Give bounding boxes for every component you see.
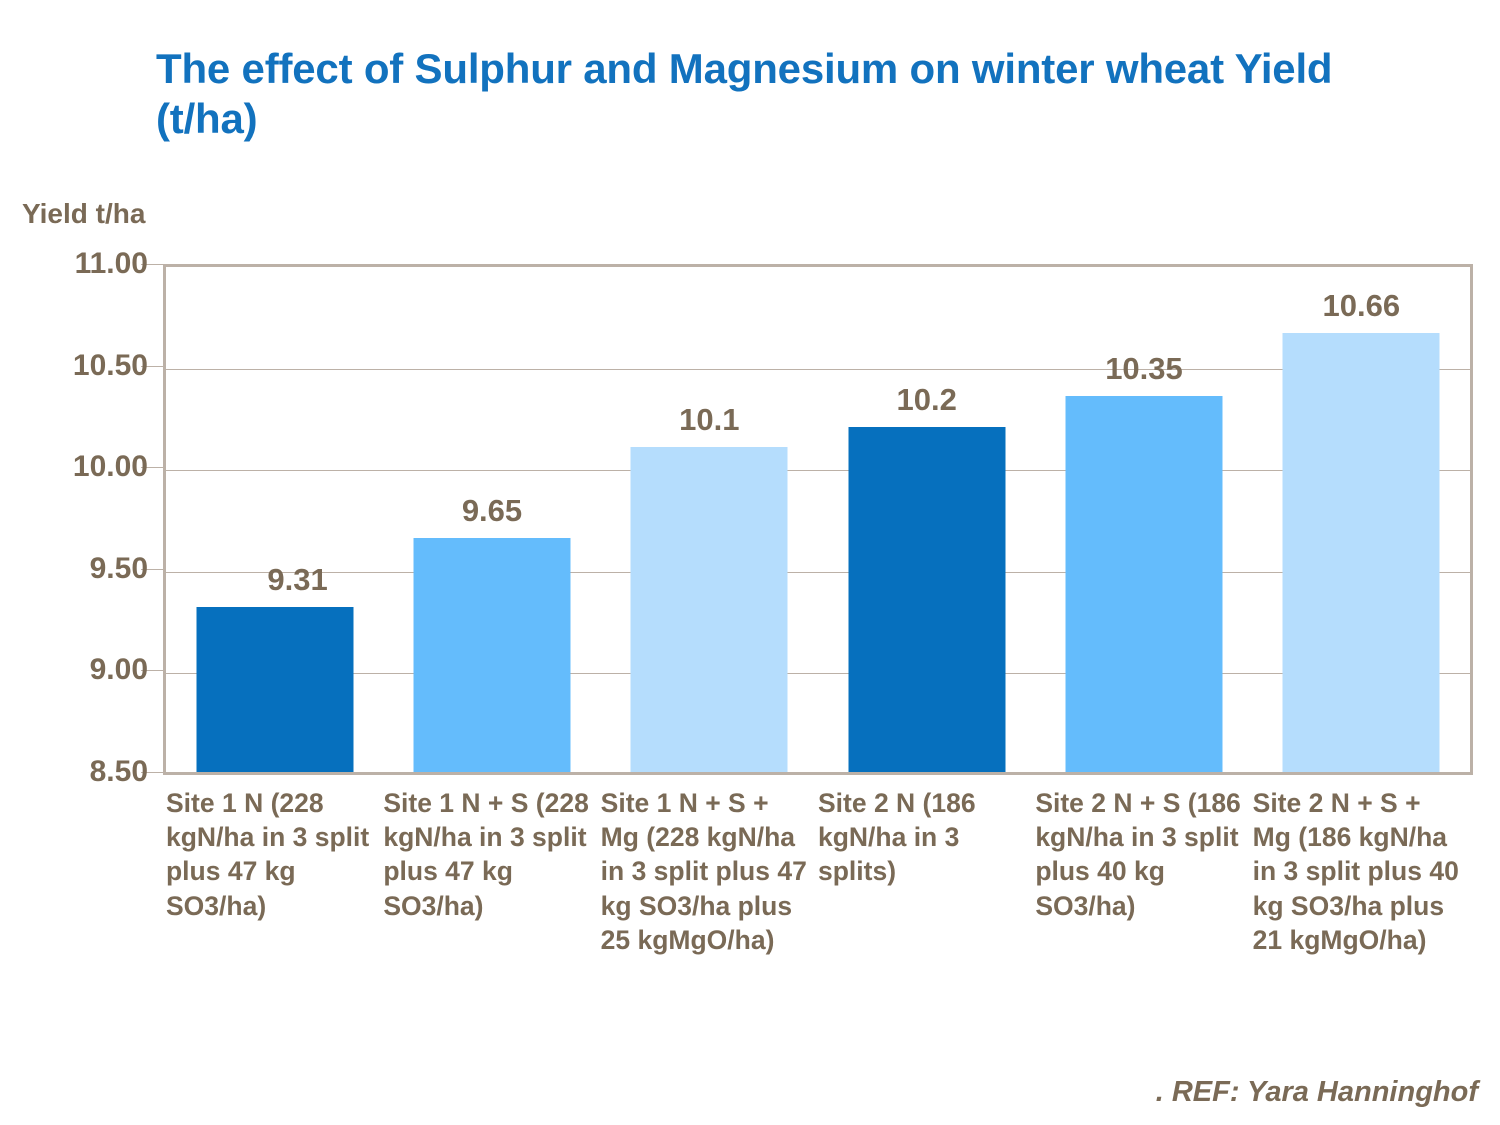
y-axis-tick-label: 11.00 [18,247,148,281]
y-axis-tick-label: 9.50 [18,552,148,586]
y-axis-tick-label: 10.00 [18,450,148,484]
x-axis-category-label: Site 2 N + S (186 kgN/ha in 3 split plus… [1035,786,1252,957]
bar-value-label: 9.65 [462,493,522,529]
bar[interactable] [1283,333,1440,772]
chart-plot-wrapper: 8.509.009.5010.0010.5011.00 9.319.6510.1… [0,0,1500,1125]
x-axis-category-label: Site 2 N + S + Mg (186 kgN/ha in 3 split… [1253,786,1470,957]
x-axis-category-label: Site 2 N (186 kgN/ha in 3 splits) [818,786,1035,957]
bar-slot: 9.65 [383,264,600,772]
bar-value-label: 10.35 [1105,351,1183,387]
x-axis-category-label: Site 1 N (228 kgN/ha in 3 split plus 47 … [166,786,383,957]
y-axis-tick-label: 8.50 [18,755,148,789]
bar[interactable] [196,607,353,772]
bar[interactable] [413,538,570,772]
bar-value-label: 10.66 [1323,288,1401,324]
bar[interactable] [631,447,788,772]
bar-slot: 10.66 [1253,264,1470,772]
bar-value-label: 9.31 [267,562,327,598]
source-footnote: . REF: Yara Hanninghof [1156,1076,1478,1109]
y-axis-tick-labels: 8.509.009.5010.0010.5011.00 [0,264,148,775]
bar-slot: 10.2 [818,264,1035,772]
bar-slot: 9.31 [166,264,383,772]
y-axis-tick-label: 10.50 [18,349,148,383]
x-axis-category-labels: Site 1 N (228 kgN/ha in 3 split plus 47 … [166,786,1470,957]
x-axis-category-label: Site 1 N + S (228 kgN/ha in 3 split plus… [383,786,600,957]
bar-slot: 10.1 [601,264,818,772]
bars-layer: 9.319.6510.110.210.3510.66 [166,264,1470,772]
bar-value-label: 10.2 [896,382,956,418]
y-axis-tick-label: 9.00 [18,653,148,687]
bar-value-label: 10.1 [679,402,739,438]
x-axis-category-label: Site 1 N + S + Mg (228 kgN/ha in 3 split… [601,786,818,957]
bar-slot: 10.35 [1035,264,1252,772]
bar[interactable] [848,427,1005,772]
bar[interactable] [1065,396,1222,772]
